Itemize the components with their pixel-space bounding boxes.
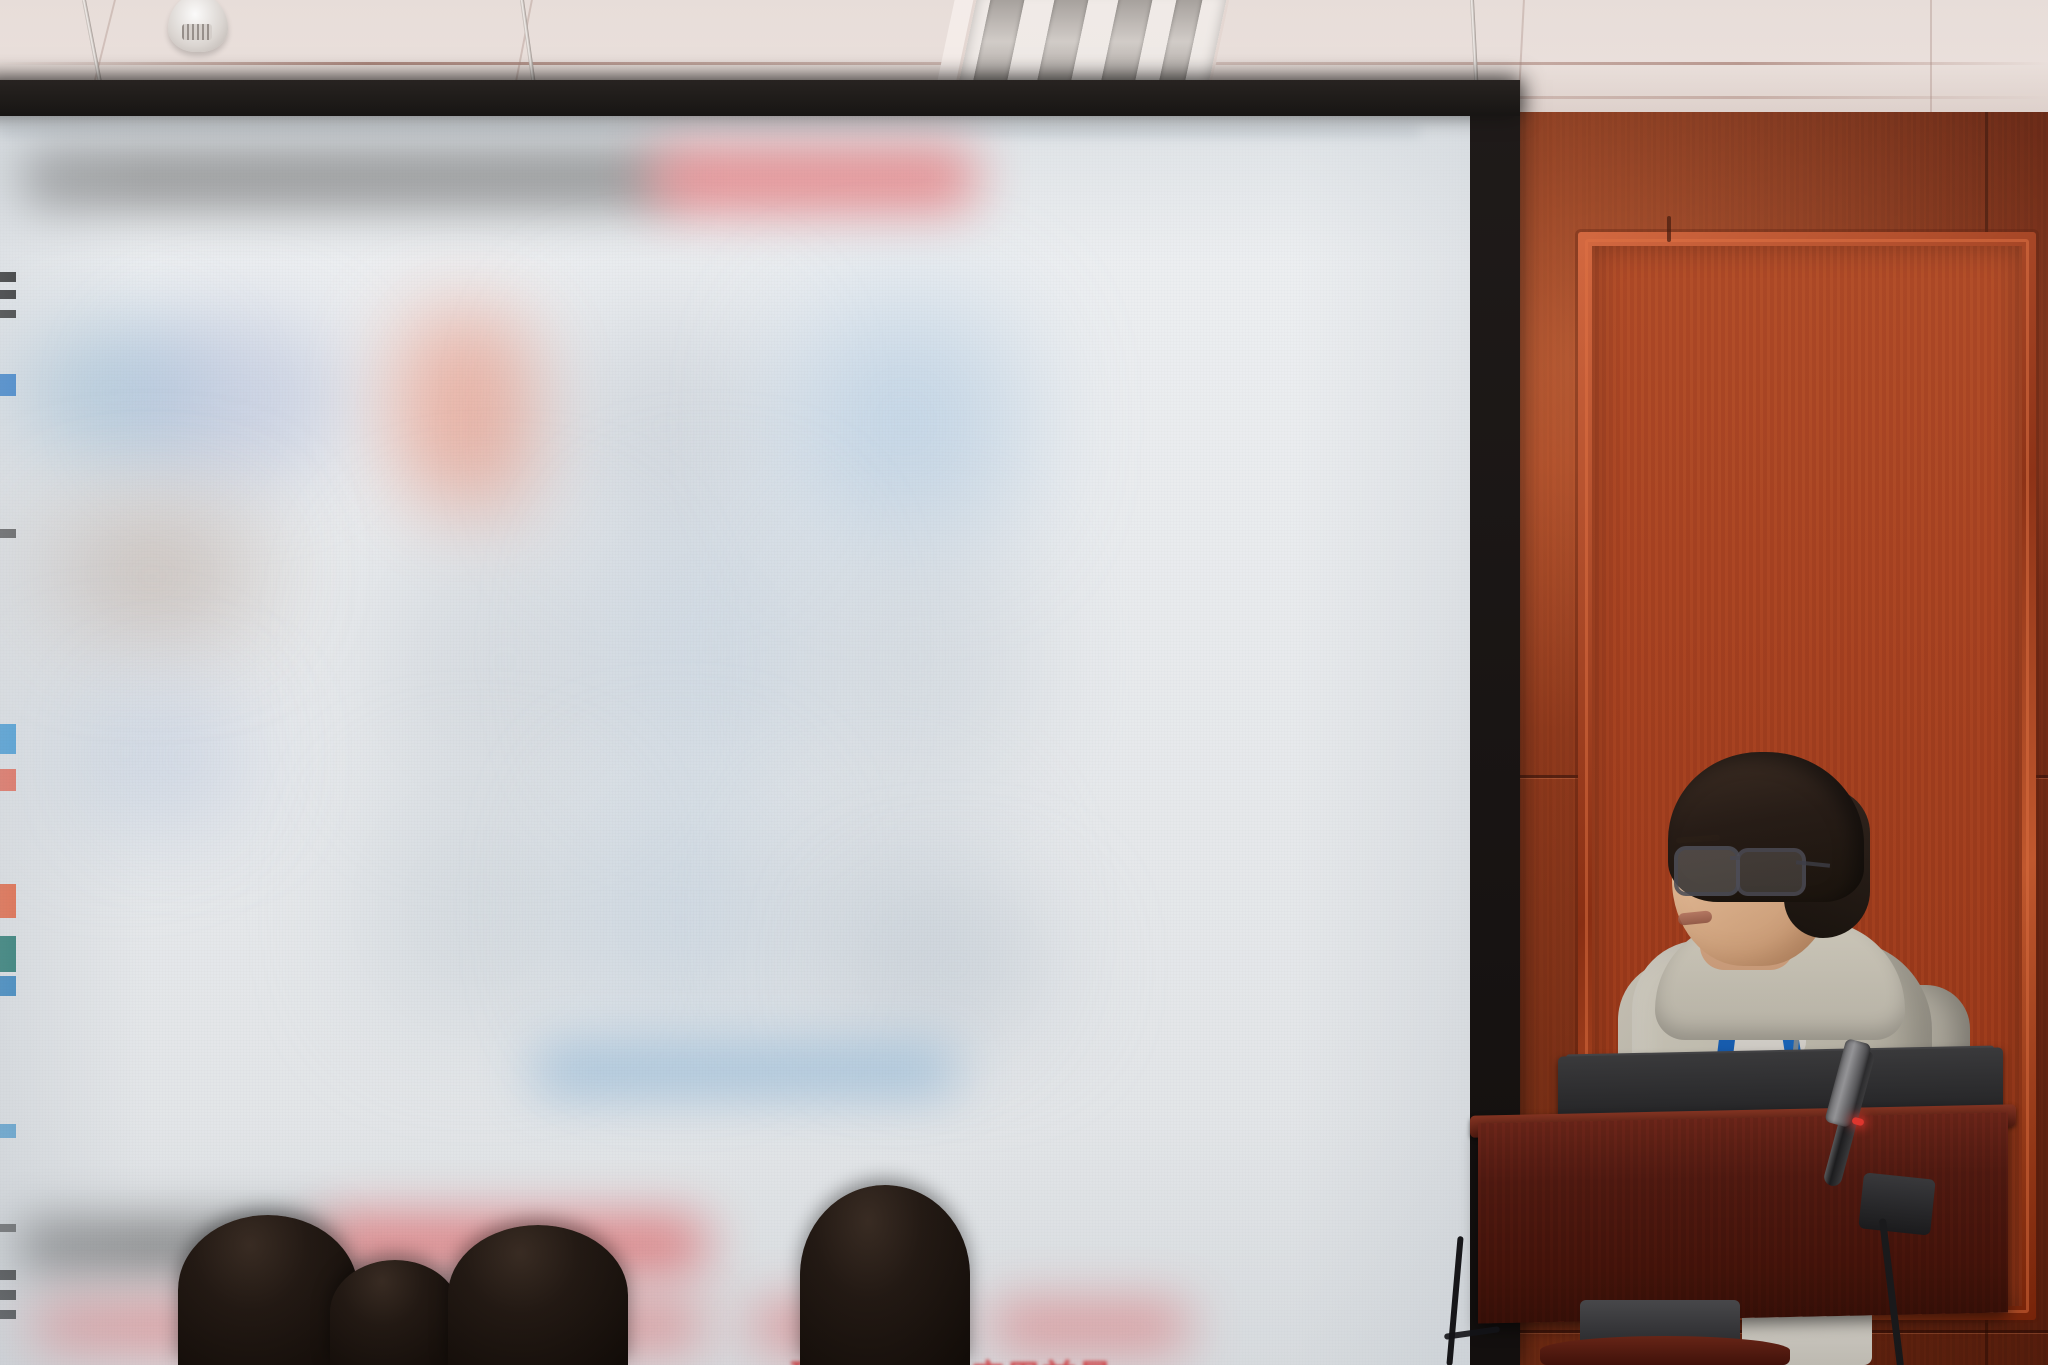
audience-head <box>448 1225 628 1365</box>
microphone-base <box>1858 1172 1935 1235</box>
slide-figure-blob <box>370 792 590 1022</box>
slide-figure-blob <box>430 327 540 527</box>
glasses-icon <box>1674 846 1740 896</box>
slide-figure-blob <box>860 902 1050 1032</box>
presentation-photo-scene: 研究进展与应用前景 Joule 2025(9): 102193 <box>0 0 2048 1365</box>
projection-screen: 研究进展与应用前景 Joule 2025(9): 102193 <box>0 112 1470 1365</box>
slide-title-highlight-blurred <box>648 142 978 208</box>
glasses-bridge <box>1730 856 1740 860</box>
slide-figure-blob <box>800 532 1030 782</box>
audience-head <box>800 1185 970 1365</box>
slide-figure-blob <box>130 712 240 802</box>
slide-figure-blob <box>120 312 350 482</box>
slide-figure-blob <box>560 312 770 542</box>
smoke-detector-icon <box>168 0 228 52</box>
glasses-icon <box>1736 848 1806 896</box>
slide-red-chip <box>990 1304 1190 1352</box>
screen-top-bar <box>0 80 1520 116</box>
slide-figure-blob <box>62 532 242 622</box>
slide-figure-blob <box>580 782 780 1032</box>
slide-top-rule <box>0 126 1420 136</box>
slide-figure-blob <box>380 532 630 792</box>
slide-left-edge-strip <box>0 224 16 1365</box>
lectern-base <box>1540 1336 1790 1365</box>
wall-nail-mark <box>1667 216 1671 242</box>
slide-title-blurred <box>18 144 678 206</box>
audience-head <box>330 1260 460 1365</box>
slide-blue-band <box>530 1042 960 1098</box>
slide-figure-blob <box>790 302 1020 542</box>
slide-content: 研究进展与应用前景 Joule 2025(9): 102193 <box>0 112 1470 1365</box>
slide-figure-blob <box>600 512 820 782</box>
